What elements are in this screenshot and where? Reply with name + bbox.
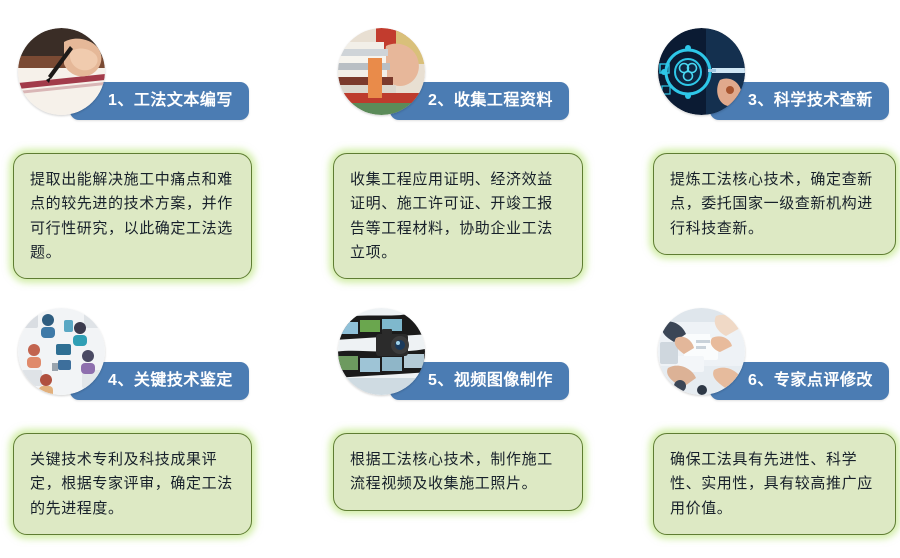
process-step-6: 6、专家点评修改 确保工法具有先进性、科学性、实用性，具有较高推广应用价值。 <box>640 295 900 558</box>
step-6-header: 6、专家点评修改 <box>640 295 900 405</box>
step-2-description-card: 收集工程应用证明、经济效益证明、施工许可证、开竣工报告等工程材料，协助企业工法立… <box>333 153 583 279</box>
step-5-title: 5、视频图像制作 <box>428 373 553 389</box>
step-6-title: 6、专家点评修改 <box>748 373 873 389</box>
process-step-2: 2、收集工程资料 收集工程应用证明、经济效益证明、施工许可证、开竣工报告等工程材… <box>320 15 620 278</box>
step-3-description-card: 提炼工法核心技术，确定查新点，委托国家一级查新机构进行科技查新。 <box>653 153 896 255</box>
step-6-description-text: 确保工法具有先进性、科学性、实用性，具有较高推广应用价值。 <box>670 447 881 520</box>
step-4-description-text: 关键技术专利及科技成果评定，根据专家评审，确定工法的先进程度。 <box>30 447 237 520</box>
science-technology-photo-icon <box>658 28 745 115</box>
process-step-3: 3、科学技术查新 提炼工法核心技术，确定查新点，委托国家一级查新机构进行科技查新… <box>640 15 900 278</box>
step-6-description-card: 确保工法具有先进性、科学性、实用性，具有较高推广应用价值。 <box>653 433 896 535</box>
step-1-title: 1、工法文本编写 <box>108 93 233 109</box>
step-4-title: 4、关键技术鉴定 <box>108 373 233 389</box>
step-1-description-card: 提取出能解决施工中痛点和难点的较先进的技术方案，并作可行性研究，以此确定工法选题… <box>13 153 252 279</box>
process-step-4: 4、关键技术鉴定 关键技术专利及科技成果评定，根据专家评审，确定工法的先进程度。 <box>0 295 300 558</box>
step-5-header: 5、视频图像制作 <box>320 295 620 405</box>
process-flow-board: 1、工法文本编写 提取出能解决施工中痛点和难点的较先进的技术方案，并作可行性研究… <box>0 0 900 543</box>
step-3-description-text: 提炼工法核心技术，确定查新点，委托国家一级查新机构进行科技查新。 <box>670 167 881 240</box>
step-5-description-text: 根据工法核心技术，制作施工流程视频及收集施工照片。 <box>350 447 568 496</box>
stack-of-documents-photo-icon <box>338 28 425 115</box>
step-2-header: 2、收集工程资料 <box>320 15 620 125</box>
process-step-5: 5、视频图像制作 根据工法核心技术，制作施工流程视频及收集施工照片。 <box>320 295 620 558</box>
step-3-title: 3、科学技术查新 <box>748 93 873 109</box>
step-3-header: 3、科学技术查新 <box>640 15 900 125</box>
step-4-description-card: 关键技术专利及科技成果评定，根据专家评审，确定工法的先进程度。 <box>13 433 252 535</box>
step-2-description-text: 收集工程应用证明、经济效益证明、施工许可证、开竣工报告等工程材料，协助企业工法立… <box>350 167 568 264</box>
step-1-description-text: 提取出能解决施工中痛点和难点的较先进的技术方案，并作可行性研究，以此确定工法选题… <box>30 167 237 264</box>
experts-review-table-photo-icon <box>658 308 745 395</box>
film-strip-camera-photo-icon <box>338 308 425 395</box>
team-meeting-illustration-photo-icon <box>18 308 105 395</box>
step-4-header: 4、关键技术鉴定 <box>0 295 300 405</box>
step-5-description-card: 根据工法核心技术，制作施工流程视频及收集施工照片。 <box>333 433 583 511</box>
process-step-1: 1、工法文本编写 提取出能解决施工中痛点和难点的较先进的技术方案，并作可行性研究… <box>0 15 300 278</box>
hand-writing-photo-icon <box>18 28 105 115</box>
step-2-title: 2、收集工程资料 <box>428 93 553 109</box>
step-1-header: 1、工法文本编写 <box>0 15 300 125</box>
